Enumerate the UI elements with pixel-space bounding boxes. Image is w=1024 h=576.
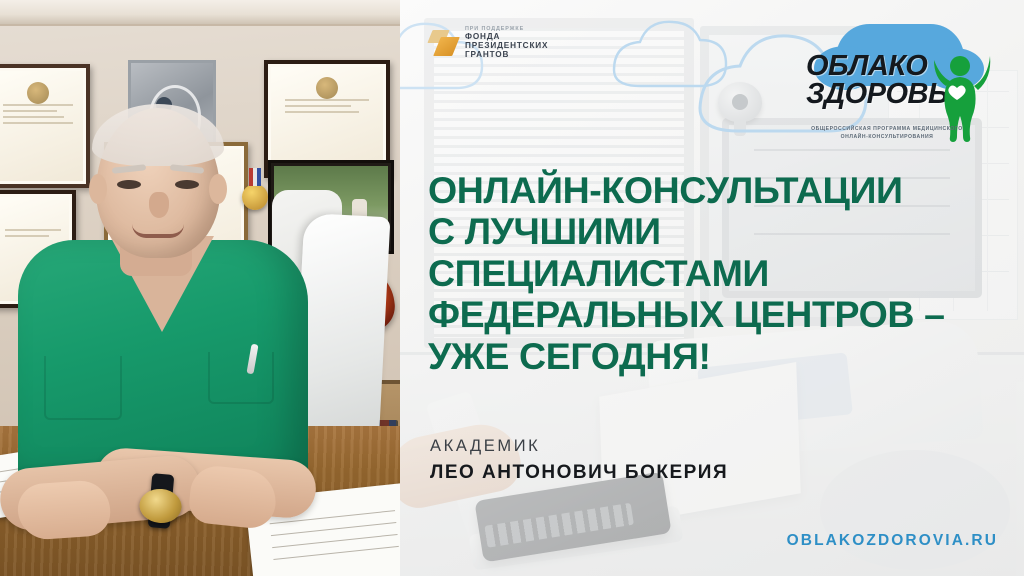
doctor-photo: Диплом <box>0 0 400 576</box>
cloud-outline-small <box>614 22 726 86</box>
eyebrow-right <box>170 164 204 174</box>
grants-fund-mark-icon <box>430 28 458 58</box>
eye-right <box>175 180 199 189</box>
scrubs-pocket-right <box>208 352 274 404</box>
brand-logo[interactable]: ОБЛАКО ЗДОРОВЬЯ ОБЩЕРОССИЙСКАЯ ПРОГРАММА… <box>800 24 1010 164</box>
headline-line-4: ФЕДЕРАЛЬНЫХ ЦЕНТРОВ – <box>428 294 1018 335</box>
ceiling-moulding <box>0 0 400 26</box>
content-panel: ПРИ ПОДДЕРЖКЕ ФОНДА ПРЕЗИДЕНТСКИХ ГРАНТО… <box>400 0 1024 576</box>
nose <box>149 192 169 218</box>
grants-fund-line-2: ПРЕЗИДЕНТСКИХ <box>465 41 548 50</box>
head <box>96 108 220 258</box>
round-table-edge <box>820 450 1010 570</box>
eye-left <box>117 180 141 189</box>
headline-line-3: СПЕЦИАЛИСТАМИ <box>428 253 1018 294</box>
ear-left <box>89 174 107 204</box>
smiling-mouth <box>132 224 184 238</box>
promo-banner: Диплом <box>0 0 1024 576</box>
attribution-name: ЛЕО АНТОНОВИЧ БОКЕРИЯ <box>430 462 728 484</box>
grants-fund-line-1: ФОНДА <box>465 32 548 41</box>
attribution: АКАДЕМИК ЛЕО АНТОНОВИЧ БОКЕРИЯ <box>430 437 728 484</box>
headline-line-5: УЖЕ СЕГОДНЯ! <box>428 336 1018 377</box>
presidential-grants-fund-logo: ПРИ ПОДДЕРЖКЕ ФОНДА ПРЕЗИДЕНТСКИХ ГРАНТО… <box>430 26 548 60</box>
doctor-figure <box>0 106 400 576</box>
grey-hair <box>92 104 224 166</box>
ear-right <box>209 174 227 204</box>
scrubs-pocket-left <box>44 356 122 420</box>
hand-left <box>16 479 112 541</box>
brand-tagline: ОБЩЕРОССИЙСКАЯ ПРОГРАММА МЕДИЦИНСКОГО ОН… <box>806 126 968 141</box>
wristwatch <box>148 473 175 529</box>
headline-line-2: С ЛУЧШИМИ <box>428 211 1018 252</box>
website-url[interactable]: OBLAKOZDOROVIA.RU <box>787 532 998 550</box>
eyebrow-left <box>112 164 146 174</box>
grants-fund-line-3: ГРАНТОВ <box>465 50 548 59</box>
headline-line-1: ОНЛАЙН-КОНСУЛЬТАЦИИ <box>428 170 1018 211</box>
attribution-role: АКАДЕМИК <box>430 437 728 456</box>
headline: ОНЛАЙН-КОНСУЛЬТАЦИИ С ЛУЧШИМИ СПЕЦИАЛИСТ… <box>428 170 1018 377</box>
